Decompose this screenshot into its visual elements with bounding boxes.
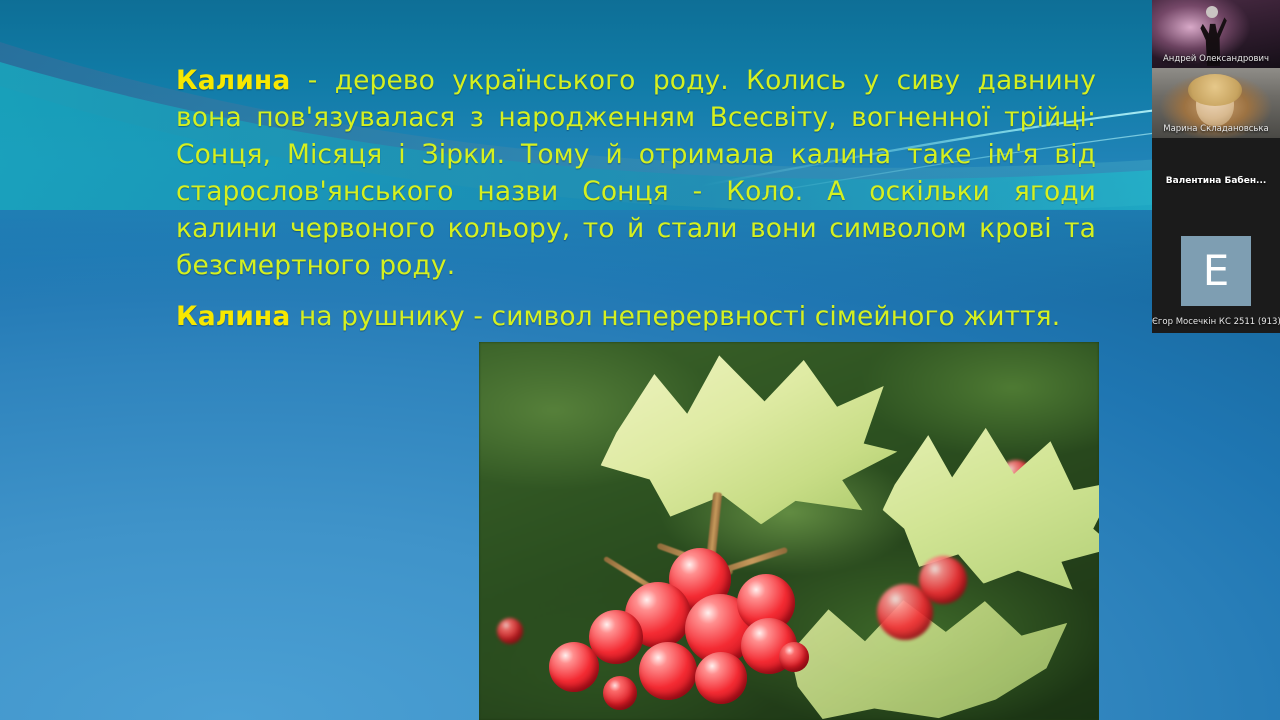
berry xyxy=(639,642,697,700)
paragraph-1-text: - дерево українського роду. Колись у сив… xyxy=(176,65,1096,281)
berry xyxy=(919,556,967,604)
video-conference-participant-panel: Андрей Олександрович Марина Складановськ… xyxy=(1152,0,1280,333)
slide-text-body: Калина - дерево українського роду. Колис… xyxy=(176,62,1096,335)
berry xyxy=(497,618,523,644)
participant-name: Андрей Олександрович xyxy=(1152,54,1280,65)
berry xyxy=(589,610,643,664)
paragraph-1: Калина - дерево українського роду. Колис… xyxy=(176,62,1096,284)
paragraph-2: Калина на рушнику - символ неперервності… xyxy=(176,298,1096,335)
paragraph-2-text: на рушнику - символ неперервності сімейн… xyxy=(290,301,1060,332)
keyword-kalyna-1: Калина xyxy=(176,65,290,96)
participant-name: Марина Складановська xyxy=(1152,124,1280,135)
participant-tile[interactable]: Андрей Олександрович xyxy=(1152,0,1280,68)
participant-tile[interactable]: Марина Складановська xyxy=(1152,68,1280,138)
presentation-slide: Калина - дерево українського роду. Колис… xyxy=(0,0,1280,720)
keyword-kalyna-2: Калина xyxy=(176,301,290,332)
participant-name: Валентина Бабен... xyxy=(1152,176,1280,187)
participant-tile[interactable]: Е Єгор Мосечкін КС 2511 (913) xyxy=(1152,228,1280,333)
avatar: Е xyxy=(1181,236,1251,306)
berry xyxy=(603,676,637,710)
person-head-icon xyxy=(1206,6,1218,18)
participant-name: Єгор Мосечкін КС 2511 (913) xyxy=(1152,317,1280,328)
berry xyxy=(695,652,747,704)
berry xyxy=(779,642,809,672)
berry xyxy=(549,642,599,692)
participant-tile[interactable]: Валентина Бабен... xyxy=(1152,138,1280,228)
screen: Калина - дерево українського роду. Колис… xyxy=(0,0,1280,720)
viburnum-photograph xyxy=(479,342,1099,720)
person-hair-icon xyxy=(1188,74,1242,106)
